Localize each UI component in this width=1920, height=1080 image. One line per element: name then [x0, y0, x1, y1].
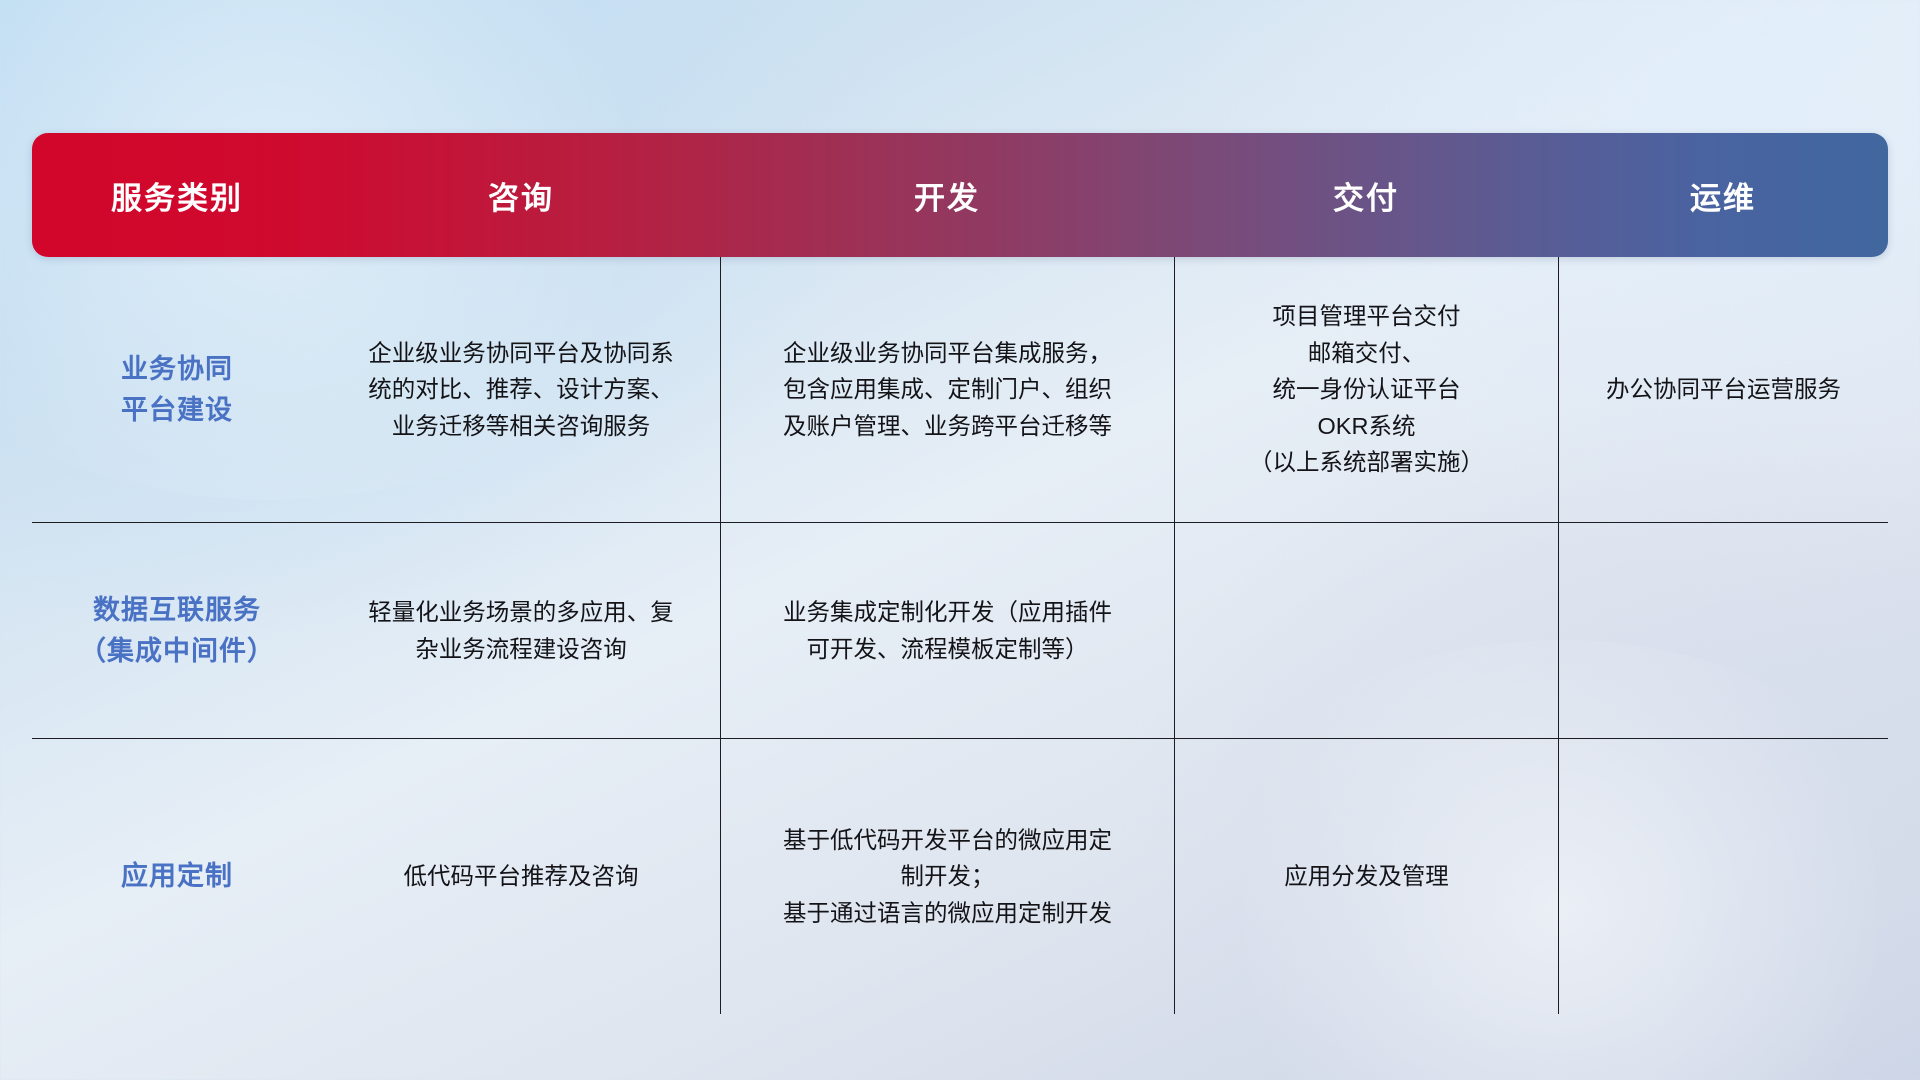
cell-operations: 办公协同平台运营服务: [1558, 257, 1888, 522]
header-label-operations: 运维: [1690, 173, 1756, 218]
header-label-development: 开发: [914, 173, 980, 218]
cell-development: 企业级业务协同平台集成服务， 包含应用集成、定制门户、组织 及账户管理、业务跨平…: [720, 257, 1174, 522]
header-cell-consulting: 咨询: [322, 133, 720, 257]
cell-development-text: 业务集成定制化开发（应用插件 可开发、流程模板定制等）: [783, 594, 1112, 667]
cell-operations-text: 办公协同平台运营服务: [1606, 371, 1841, 407]
cell-development-text: 企业级业务协同平台集成服务， 包含应用集成、定制门户、组织 及账户管理、业务跨平…: [783, 335, 1112, 444]
cell-consulting: 低代码平台推荐及咨询: [322, 739, 720, 1014]
header-cell-delivery: 交付: [1174, 133, 1558, 257]
cell-operations: [1558, 739, 1888, 1014]
cell-development: 业务集成定制化开发（应用插件 可开发、流程模板定制等）: [720, 523, 1174, 738]
row-category-cell: 应用定制: [32, 739, 322, 1014]
row-category-cell: 数据互联服务 （集成中间件）: [32, 523, 322, 738]
table-body: 业务协同 平台建设 企业级业务协同平台及协同系 统的对比、推荐、设计方案、 业务…: [32, 257, 1888, 1014]
cell-delivery-text: 项目管理平台交付 邮箱交付、 统一身份认证平台 OKR系统 （以上系统部署实施）: [1249, 298, 1484, 480]
cell-operations: [1558, 523, 1888, 738]
cell-consulting-text: 低代码平台推荐及咨询: [404, 858, 639, 894]
row-category-label: 数据互联服务 （集成中间件）: [79, 590, 275, 671]
cell-development-text: 基于低代码开发平台的微应用定 制开发； 基于通过语言的微应用定制开发: [783, 822, 1112, 931]
header-label-consulting: 咨询: [488, 173, 554, 218]
cell-consulting: 企业级业务协同平台及协同系 统的对比、推荐、设计方案、 业务迁移等相关咨询服务: [322, 257, 720, 522]
header-cell-service-category: 服务类别: [32, 133, 322, 257]
row-category-label: 应用定制: [121, 856, 233, 897]
table-header-row: 服务类别 咨询 开发 交付 运维: [32, 133, 1888, 257]
cell-consulting-text: 企业级业务协同平台及协同系 统的对比、推荐、设计方案、 业务迁移等相关咨询服务: [368, 335, 674, 444]
cell-delivery-text: 应用分发及管理: [1284, 858, 1449, 894]
cell-delivery: 应用分发及管理: [1174, 739, 1558, 1014]
table-row: 应用定制 低代码平台推荐及咨询 基于低代码开发平台的微应用定 制开发； 基于通过…: [32, 738, 1888, 1014]
header-label-service-category: 服务类别: [111, 173, 243, 218]
cell-consulting: 轻量化业务场景的多应用、复 杂业务流程建设咨询: [322, 523, 720, 738]
row-category-label: 业务协同 平台建设: [121, 349, 233, 430]
row-category-cell: 业务协同 平台建设: [32, 257, 322, 522]
header-label-delivery: 交付: [1333, 173, 1399, 218]
cell-delivery: [1174, 523, 1558, 738]
service-matrix-table: 服务类别 咨询 开发 交付 运维 业务协同 平台建设: [32, 133, 1888, 1014]
cell-delivery: 项目管理平台交付 邮箱交付、 统一身份认证平台 OKR系统 （以上系统部署实施）: [1174, 257, 1558, 522]
cell-consulting-text: 轻量化业务场景的多应用、复 杂业务流程建设咨询: [368, 594, 674, 667]
header-cell-operations: 运维: [1558, 133, 1888, 257]
header-cell-development: 开发: [720, 133, 1174, 257]
cell-development: 基于低代码开发平台的微应用定 制开发； 基于通过语言的微应用定制开发: [720, 739, 1174, 1014]
table-row: 业务协同 平台建设 企业级业务协同平台及协同系 统的对比、推荐、设计方案、 业务…: [32, 257, 1888, 522]
slide-canvas: 服务类别 咨询 开发 交付 运维 业务协同 平台建设: [0, 0, 1920, 1080]
table-row: 数据互联服务 （集成中间件） 轻量化业务场景的多应用、复 杂业务流程建设咨询 业…: [32, 522, 1888, 738]
